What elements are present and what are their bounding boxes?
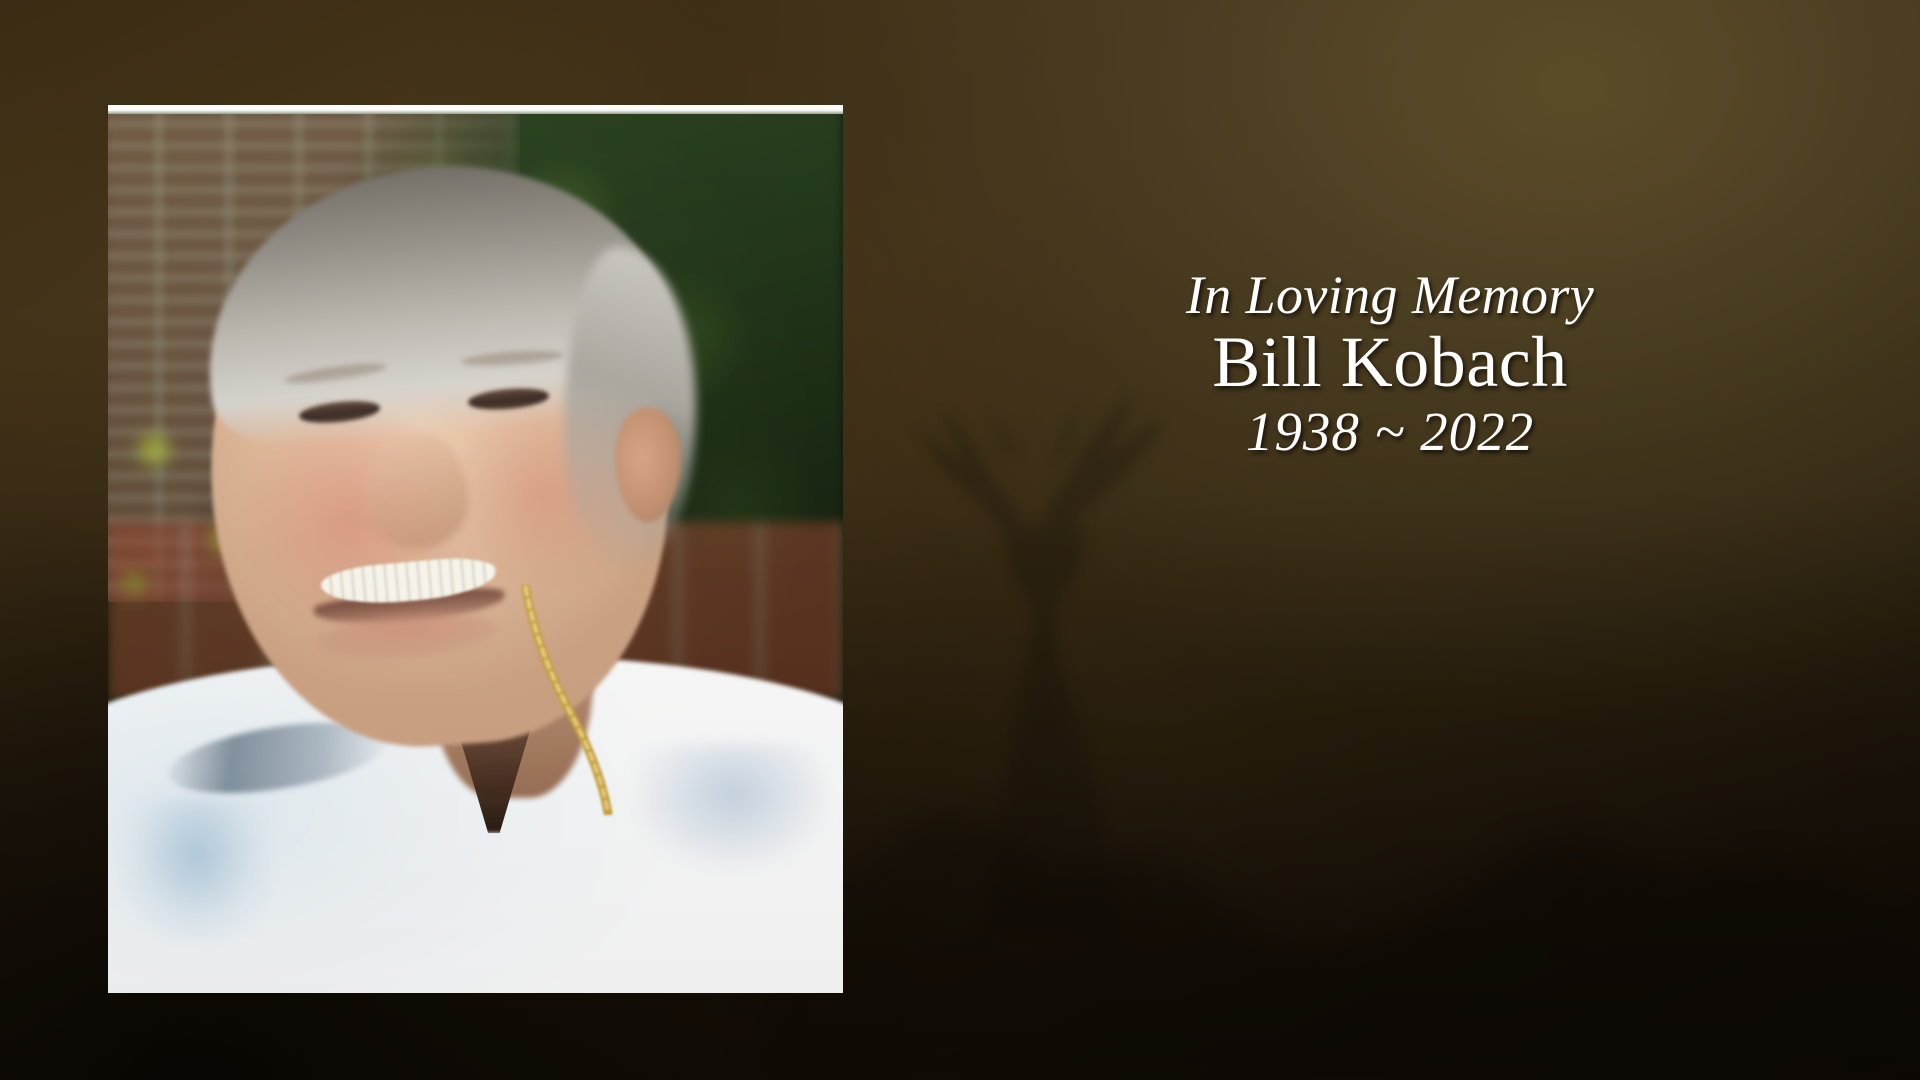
photo-shirt-shading-right [637, 744, 828, 868]
photo-subject [108, 105, 843, 993]
photo-canvas [108, 105, 843, 993]
gold-chain-necklace-icon [512, 585, 630, 816]
memorial-name: Bill Kobach [1000, 326, 1780, 398]
photo-nose [365, 434, 468, 549]
photo-top-white-strip [108, 105, 843, 114]
memorial-dates: 1938 ~ 2022 [1000, 404, 1780, 459]
photo-shirt-shading [123, 798, 270, 940]
memorial-text-block: In Loving Memory Bill Kobach 1938 ~ 2022 [1000, 268, 1780, 459]
photo-hair-side [564, 247, 696, 567]
memorial-tribute-page: In Loving Memory Bill Kobach 1938 ~ 2022 [0, 0, 1920, 1080]
memorial-prefix: In Loving Memory [1000, 268, 1780, 322]
memorial-portrait-photo [108, 105, 843, 993]
